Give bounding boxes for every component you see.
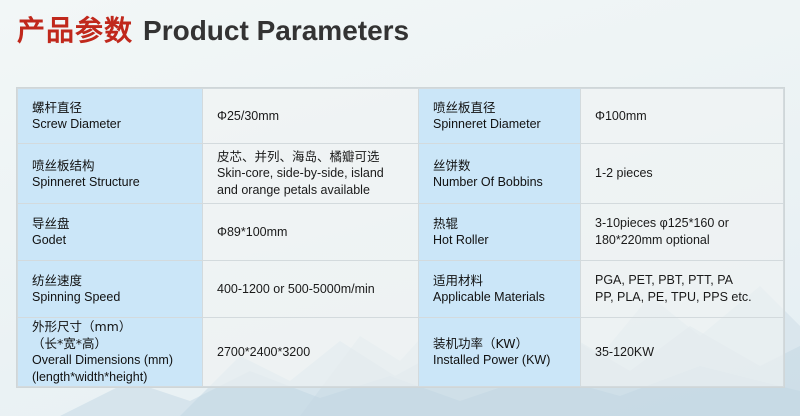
value-line: Skin-core, side-by-side, island [217, 165, 404, 182]
label-en: Screw Diameter [32, 116, 188, 133]
spec-value-spinneret-diameter: Φ100mm [581, 89, 784, 144]
value-line: 1-2 pieces [595, 165, 769, 182]
spec-value-spinneret-structure: 皮芯、并列、海岛、橘瓣可选 Skin-core, side-by-side, i… [203, 144, 419, 204]
label-cn: 适用材料 [433, 272, 566, 289]
value-line: 2700*2400*3200 [217, 344, 404, 361]
spec-label-godet: 导丝盘 Godet [18, 204, 203, 261]
label-cn-2: （长*宽*高） [32, 335, 188, 352]
label-cn: 外形尺寸（mm） [32, 318, 188, 335]
spec-value-hot-roller: 3-10pieces φ125*160 or 180*220mm optiona… [581, 204, 784, 261]
value-line: Φ89*100mm [217, 224, 404, 241]
spec-value-godet: Φ89*100mm [203, 204, 419, 261]
value-line: PGA, PET, PBT, PTT, PA [595, 272, 769, 289]
value-line: 400-1200 or 500-5000m/min [217, 281, 404, 298]
value-line: PP, PLA, PE, TPU, PPS etc. [595, 289, 769, 306]
value-line: Φ100mm [595, 108, 769, 125]
spec-value-spinning-speed: 400-1200 or 500-5000m/min [203, 261, 419, 318]
spec-value-screw-diameter: Φ25/30mm [203, 89, 419, 144]
value-line: 180*220mm optional [595, 232, 769, 249]
page-title: 产品参数Product Parameters [17, 12, 409, 50]
spec-value-number-of-bobbins: 1-2 pieces [581, 144, 784, 204]
label-en: Spinneret Diameter [433, 116, 566, 133]
label-cn: 喷丝板结构 [32, 157, 188, 174]
table-row: 导丝盘 Godet Φ89*100mm 热辊 Hot Roller 3-10pi… [18, 204, 784, 261]
value-line: 3-10pieces φ125*160 or [595, 215, 769, 232]
spec-label-spinneret-diameter: 喷丝板直径 Spinneret Diameter [419, 89, 581, 144]
specifications-table: 螺杆直径 Screw Diameter Φ25/30mm 喷丝板直径 Spinn… [17, 88, 784, 387]
value-line: Φ25/30mm [217, 108, 404, 125]
label-cn: 导丝盘 [32, 215, 188, 232]
label-cn: 螺杆直径 [32, 99, 188, 116]
spec-value-applicable-materials: PGA, PET, PBT, PTT, PA PP, PLA, PE, TPU,… [581, 261, 784, 318]
spec-label-applicable-materials: 适用材料 Applicable Materials [419, 261, 581, 318]
label-en: Godet [32, 232, 188, 249]
spec-label-spinneret-structure: 喷丝板结构 Spinneret Structure [18, 144, 203, 204]
label-en: Installed Power (KW) [433, 352, 566, 369]
label-cn: 装机功率（KW） [433, 335, 566, 352]
table-row: 纺丝速度 Spinning Speed 400-1200 or 500-5000… [18, 261, 784, 318]
label-cn: 丝饼数 [433, 157, 566, 174]
spec-value-installed-power: 35-120KW [581, 318, 784, 387]
spec-label-installed-power: 装机功率（KW） Installed Power (KW) [419, 318, 581, 387]
label-cn: 喷丝板直径 [433, 99, 566, 116]
spec-label-hot-roller: 热辊 Hot Roller [419, 204, 581, 261]
spec-label-number-of-bobbins: 丝饼数 Number Of Bobbins [419, 144, 581, 204]
label-en: Overall Dimensions (mm) [32, 352, 188, 369]
spec-label-overall-dimensions: 外形尺寸（mm） （长*宽*高） Overall Dimensions (mm)… [18, 318, 203, 387]
page-title-cn: 产品参数 [17, 14, 133, 47]
label-en-2: (length*width*height) [32, 369, 188, 386]
product-parameters-page: 产品参数Product Parameters 螺杆直径 Screw Diamet… [0, 0, 800, 416]
label-en: Spinning Speed [32, 289, 188, 306]
label-en: Number Of Bobbins [433, 174, 566, 191]
value-line: 35-120KW [595, 344, 769, 361]
table-row: 喷丝板结构 Spinneret Structure 皮芯、并列、海岛、橘瓣可选 … [18, 144, 784, 204]
value-line: 皮芯、并列、海岛、橘瓣可选 [217, 148, 404, 165]
value-line: and orange petals available [217, 182, 404, 199]
label-cn: 纺丝速度 [32, 272, 188, 289]
label-cn: 热辊 [433, 215, 566, 232]
label-en: Hot Roller [433, 232, 566, 249]
table-row: 螺杆直径 Screw Diameter Φ25/30mm 喷丝板直径 Spinn… [18, 89, 784, 144]
spec-label-screw-diameter: 螺杆直径 Screw Diameter [18, 89, 203, 144]
spec-value-overall-dimensions: 2700*2400*3200 [203, 318, 419, 387]
page-title-en: Product Parameters [143, 15, 409, 46]
label-en: Applicable Materials [433, 289, 566, 306]
label-en: Spinneret Structure [32, 174, 188, 191]
table-row: 外形尺寸（mm） （长*宽*高） Overall Dimensions (mm)… [18, 318, 784, 387]
spec-label-spinning-speed: 纺丝速度 Spinning Speed [18, 261, 203, 318]
